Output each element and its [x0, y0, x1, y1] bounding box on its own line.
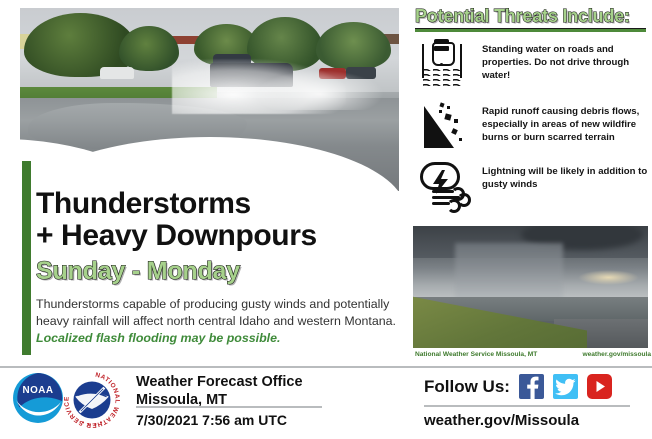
storm-sunbreak [578, 270, 639, 285]
nws-logo: NATIONAL WEATHER SERVICE [64, 372, 120, 428]
threat-item: Lightning will be likely in addition to … [412, 160, 650, 210]
date-range-label: Sunday - Monday [36, 257, 240, 286]
website-url: weather.gov/Missoula [424, 412, 579, 429]
forecast-description: Thunderstorms capable of producing gusty… [36, 296, 398, 347]
threat-item: Standing water on roads and properties. … [412, 38, 650, 88]
twitter-icon[interactable] [553, 374, 578, 399]
photo-white-car [100, 67, 134, 80]
photo-caption-site: weather.gov/missoula [582, 351, 651, 358]
threat-item: Rapid runoff causing debris flows, espec… [412, 100, 650, 150]
green-accent-bar [22, 161, 31, 355]
threat-item-text: Rapid runoff causing debris flows, espec… [482, 100, 650, 145]
threat-item-text: Lightning will be likely in addition to … [482, 160, 650, 192]
threat-item-text: Standing water on roads and properties. … [482, 38, 650, 83]
car-in-floodwater-icon [412, 38, 472, 88]
thunderstorm-wind-icon [412, 160, 472, 210]
headline-line-1: Thunderstorms [36, 187, 251, 220]
debris-flow-icon [412, 100, 472, 150]
noaa-logo: NOAA [12, 372, 64, 424]
follow-us-label: Follow Us: [424, 377, 510, 397]
office-rule [136, 406, 322, 408]
forecast-description-plain: Thunderstorms capable of producing gusty… [36, 297, 396, 328]
photo-water-splash [255, 70, 384, 110]
office-name: Weather Forecast Office Missoula, MT [136, 374, 303, 409]
office-name-line-1: Weather Forecast Office [136, 374, 303, 392]
page-title: Thunderstorms + Heavy Downpours [36, 188, 396, 253]
photo-caption: National Weather Service Missoula, MT we… [415, 351, 651, 358]
issuance-timestamp: 7/30/2021 7:56 am UTC [136, 412, 287, 428]
weather-graphic-poster: Thunderstorms + Heavy Downpours Sunday -… [0, 0, 652, 439]
forecast-description-emphasis: Localized flash flooding may be possible… [36, 331, 280, 345]
photo-credit: National Weather Service Missoula, MT [415, 351, 537, 358]
svg-text:NOAA: NOAA [22, 385, 53, 396]
footer-divider [0, 366, 652, 368]
photo-tree [119, 26, 180, 72]
flooded-street-photo [20, 8, 399, 191]
facebook-icon[interactable] [519, 374, 544, 399]
follow-rule [424, 405, 630, 407]
youtube-icon[interactable] [587, 374, 612, 399]
headline-line-2: + Heavy Downpours [36, 220, 396, 252]
storm-over-valley-photo [413, 226, 648, 348]
threats-heading: Potential Threats Include: [415, 6, 630, 27]
follow-us-group: Follow Us: [424, 374, 612, 399]
threats-heading-underline [415, 28, 646, 32]
